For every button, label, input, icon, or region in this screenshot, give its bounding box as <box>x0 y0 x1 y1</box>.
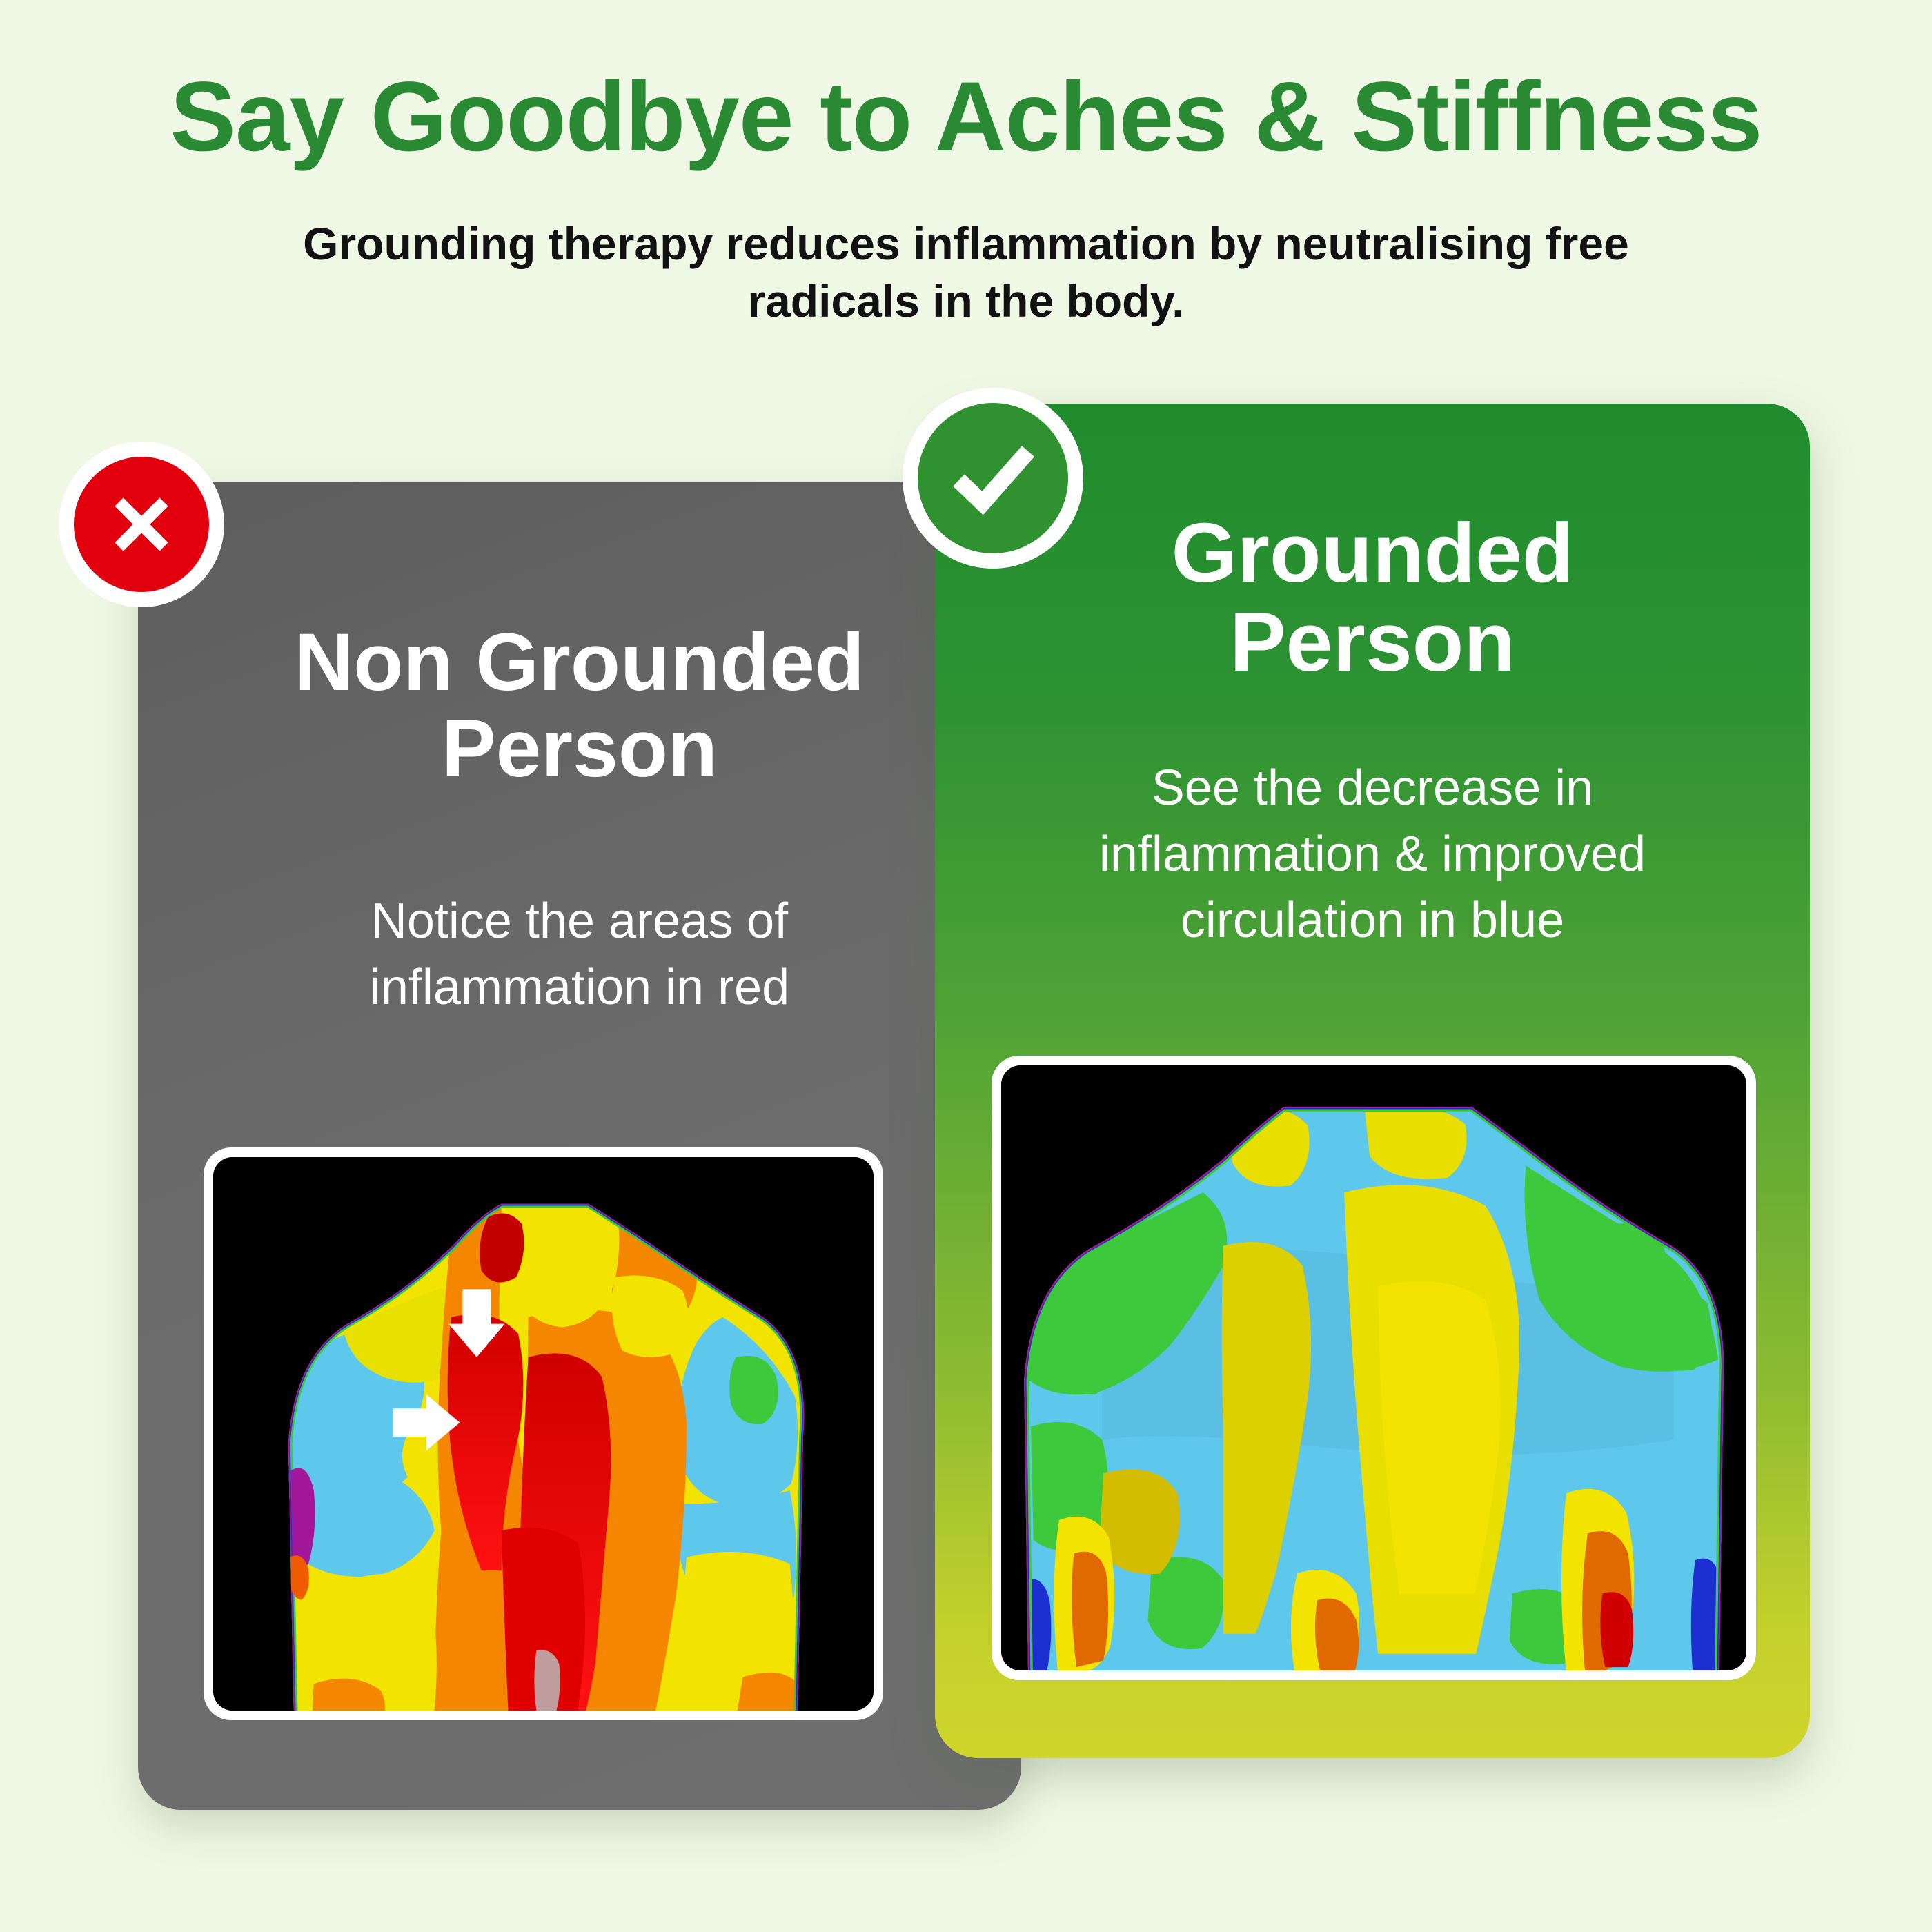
check-circle-badge <box>903 388 1083 569</box>
page-title: Say Goodbye to Aches & Stiffness <box>0 66 1932 169</box>
x-circle-badge <box>59 442 224 607</box>
thermal-image-non-grounded-canvas <box>213 1157 874 1711</box>
x-circle-icon <box>74 457 209 592</box>
infographic-canvas: Say Goodbye to Aches & Stiffness Groundi… <box>0 0 1932 1932</box>
thermal-image-non-grounded <box>204 1147 883 1720</box>
card-grounded-subtitle: See the decrease in inflammation & impro… <box>935 756 1810 954</box>
page-subtitle: Grounding therapy reduces inflammation b… <box>262 215 1670 329</box>
thermal-image-grounded <box>992 1056 1756 1680</box>
thermal-image-grounded-canvas <box>1001 1065 1746 1670</box>
check-circle-icon <box>918 403 1068 553</box>
card-non-grounded-title: Non Grounded Person <box>138 620 1021 792</box>
card-non-grounded-subtitle: Notice the areas of inflammation in red <box>138 889 1021 1021</box>
card-grounded-title: Grounded Person <box>935 509 1810 687</box>
